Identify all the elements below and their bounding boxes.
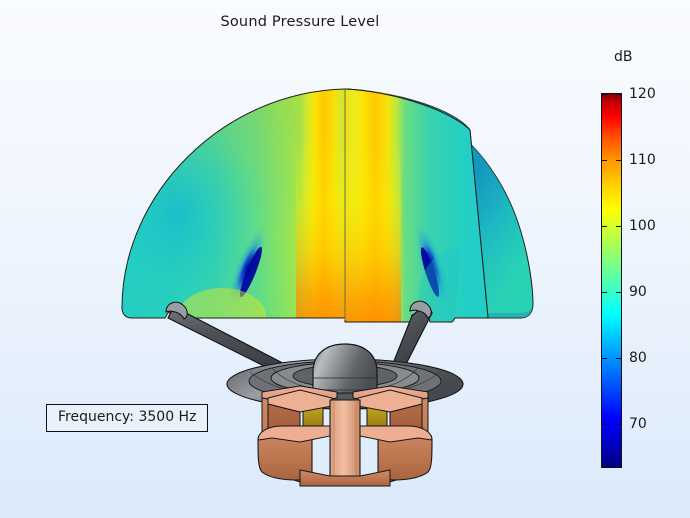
- colorbar-label-100: 100: [629, 218, 656, 234]
- colorbar-tick-70-right: [616, 424, 622, 425]
- colorbar-tick-70-left: [601, 424, 607, 425]
- colorbar-tick-100-left: [601, 226, 607, 227]
- colorbar-tick-110-right: [616, 160, 622, 161]
- spl-plot-window: Sound Pressure Level: [0, 0, 690, 518]
- colorbar-tick-80-left: [601, 358, 607, 359]
- colorbar-gradient[interactable]: [601, 93, 622, 468]
- colorbar-tick-100-right: [616, 226, 622, 227]
- colorbar-tick-110-left: [601, 160, 607, 161]
- colorbar-tick-90-right: [616, 292, 622, 293]
- colorbar-tick-90-left: [601, 292, 607, 293]
- colorbar-label-110: 110: [629, 152, 656, 168]
- colorbar-label-90: 90: [629, 284, 647, 300]
- colorbar: dB 120 110 100 90 80 70: [598, 45, 690, 485]
- colorbar-label-80: 80: [629, 350, 647, 366]
- colorbar-tick-120-left: [601, 94, 607, 95]
- colorbar-tick-80-right: [616, 358, 622, 359]
- colorbar-label-120: 120: [629, 86, 656, 102]
- colorbar-label-70: 70: [629, 416, 647, 432]
- colorbar-tick-120-right: [616, 94, 622, 95]
- spl-field-left-half: [100, 85, 355, 344]
- model-viewport[interactable]: [0, 0, 600, 518]
- colorbar-unit-label: dB: [614, 49, 633, 65]
- acoustic-model-svg: [0, 0, 600, 518]
- magnet-assembly: [258, 386, 432, 486]
- frequency-annotation: Frequency: 3500 Hz: [46, 404, 208, 432]
